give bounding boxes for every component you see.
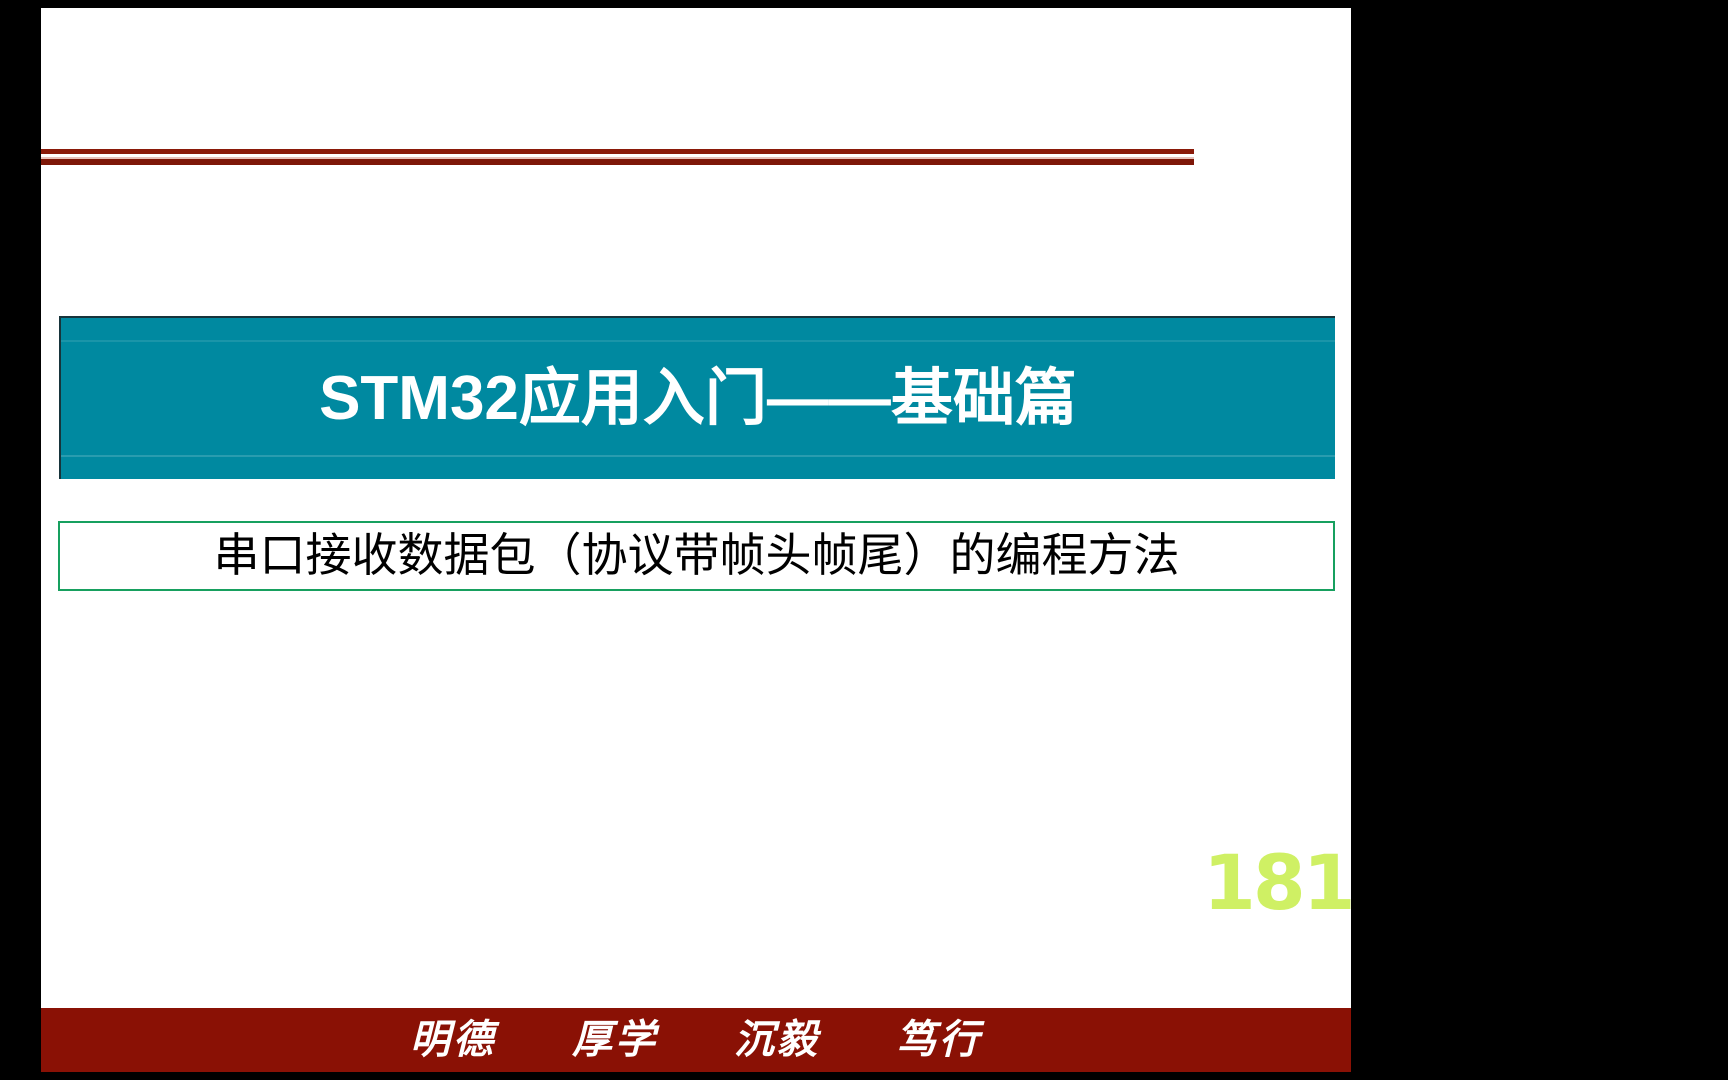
subtitle-box: 串口接收数据包（协议带帧头帧尾）的编程方法	[58, 521, 1335, 591]
slide-subtitle: 串口接收数据包（协议带帧头帧尾）的编程方法	[214, 533, 1180, 579]
footer-motto-bar: 明德 厚学 沉毅 笃行	[41, 1008, 1351, 1072]
rule-line-lower	[41, 159, 1194, 165]
letterbox-top	[0, 0, 1728, 8]
letterbox-left	[0, 0, 41, 1080]
title-banner: STM32应用入门——基础篇	[59, 316, 1335, 479]
slide-title: STM32应用入门——基础篇	[319, 368, 1077, 430]
slide-canvas: STM32应用入门——基础篇 串口接收数据包（协议带帧头帧尾）的编程方法 181…	[41, 8, 1351, 1072]
header-decorative-rule	[41, 149, 1194, 165]
title-inner-rule-top	[61, 340, 1335, 342]
motto-word-1: 明德	[410, 1020, 496, 1060]
motto-word-4: 笃行	[896, 1020, 982, 1060]
title-inner-rule-bottom	[61, 455, 1335, 457]
letterbox-right	[1351, 0, 1728, 1080]
letterbox-bottom	[0, 1072, 1728, 1080]
presentation-stage: STM32应用入门——基础篇 串口接收数据包（协议带帧头帧尾）的编程方法 181…	[0, 0, 1728, 1080]
motto-word-2: 厚学	[572, 1020, 658, 1060]
logo-digits: 1812	[1203, 846, 1351, 920]
motto-word-3: 沉毅	[734, 1020, 820, 1060]
studio-logo: 1812 Studio	[1203, 846, 1351, 924]
